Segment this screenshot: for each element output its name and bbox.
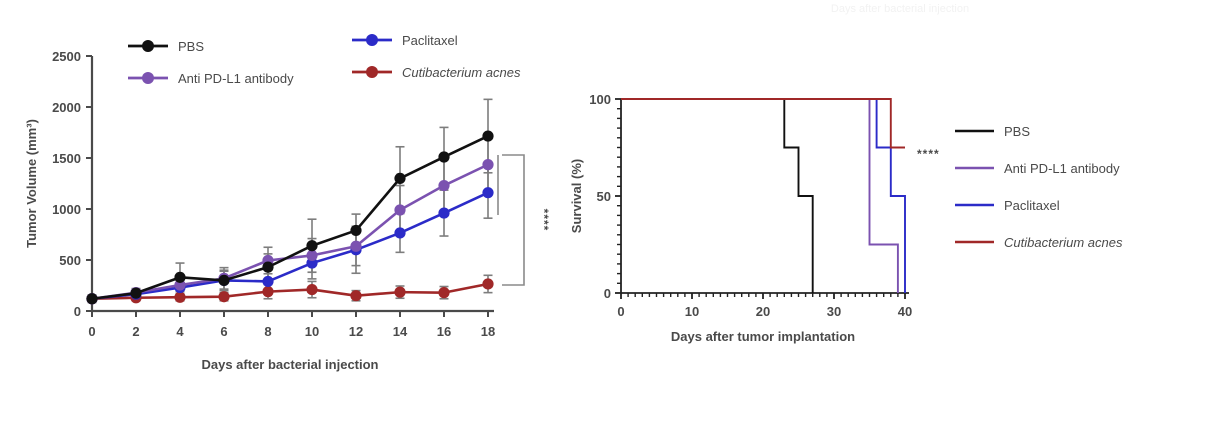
data-point bbox=[438, 287, 449, 298]
data-point bbox=[438, 207, 449, 218]
figure-svg: 05001000150020002500024681012141618Days … bbox=[0, 0, 1216, 424]
series-line bbox=[92, 193, 488, 299]
left-x-tick-label: 6 bbox=[220, 324, 227, 339]
data-point bbox=[482, 187, 493, 198]
right-x-axis-label: Days after tumor implantation bbox=[671, 329, 855, 344]
data-point bbox=[350, 241, 361, 252]
legend-item[interactable]: Paclitaxel bbox=[352, 33, 458, 48]
left-x-axis-label: Days after bacterial injection bbox=[201, 357, 378, 372]
left-x-tick-label: 10 bbox=[305, 324, 319, 339]
legend-label: Paclitaxel bbox=[1004, 198, 1060, 213]
legend-item[interactable]: Anti PD-L1 antibody bbox=[955, 161, 1120, 176]
left-x-tick-label: 2 bbox=[132, 324, 139, 339]
right-x-tick-label: 40 bbox=[898, 304, 912, 319]
series-paclitaxel bbox=[86, 187, 493, 304]
bracket-path bbox=[502, 155, 524, 285]
left-y-tick-label: 2000 bbox=[52, 100, 81, 115]
legend-label: Cutibacterium acnes bbox=[1004, 235, 1123, 250]
data-point bbox=[438, 180, 449, 191]
left-x-tick-label: 16 bbox=[437, 324, 451, 339]
legend-item[interactable]: Cutibacterium acnes bbox=[352, 65, 521, 80]
right-significance-stars: **** bbox=[917, 147, 940, 161]
legend-marker bbox=[366, 66, 378, 78]
data-point bbox=[394, 227, 405, 238]
left-y-tick-label: 1500 bbox=[52, 151, 81, 166]
left-x-tick-label: 8 bbox=[264, 324, 271, 339]
data-point bbox=[394, 173, 405, 184]
data-point bbox=[306, 250, 317, 261]
data-point bbox=[218, 275, 229, 286]
data-point bbox=[482, 278, 493, 289]
left-legend: PBSPaclitaxelAnti PD-L1 antibodyCutibact… bbox=[128, 33, 521, 86]
right-y-axis-label: Survival (%) bbox=[569, 159, 584, 233]
left-x-tick-label: 18 bbox=[481, 324, 495, 339]
legend-item[interactable]: PBS bbox=[128, 39, 204, 54]
left-y-tick-label: 2500 bbox=[52, 49, 81, 64]
left-y-tick-label: 1000 bbox=[52, 202, 81, 217]
data-point bbox=[394, 204, 405, 215]
legend-marker bbox=[142, 72, 154, 84]
survival-series-paclitaxel bbox=[621, 99, 905, 293]
data-point bbox=[394, 287, 405, 298]
data-point bbox=[262, 262, 273, 273]
data-point bbox=[350, 225, 361, 236]
legend-item[interactable]: Cutibacterium acnes bbox=[955, 235, 1123, 250]
left-y-tick-label: 500 bbox=[59, 253, 81, 268]
left-x-tick-label: 4 bbox=[176, 324, 184, 339]
data-point bbox=[262, 286, 273, 297]
tumor-growth-panel: 05001000150020002500024681012141618Days … bbox=[24, 33, 551, 372]
series-line bbox=[92, 165, 488, 299]
right-y-tick-label: 0 bbox=[604, 286, 611, 301]
left-y-tick-label: 0 bbox=[74, 304, 81, 319]
right-x-tick-label: 10 bbox=[685, 304, 699, 319]
legend-label: Anti PD-L1 antibody bbox=[1004, 161, 1120, 176]
legend-label: Cutibacterium acnes bbox=[402, 65, 521, 80]
series-anti-pd-l1-antibody bbox=[86, 159, 493, 304]
data-point bbox=[438, 151, 449, 162]
legend-label: Anti PD-L1 antibody bbox=[178, 71, 294, 86]
legend-item[interactable]: PBS bbox=[955, 124, 1030, 139]
legend-label: Paclitaxel bbox=[402, 33, 458, 48]
figure-canvas: 05001000150020002500024681012141618Days … bbox=[0, 0, 1216, 424]
legend-item[interactable]: Paclitaxel bbox=[955, 198, 1060, 213]
right-x-tick-label: 30 bbox=[827, 304, 841, 319]
data-point bbox=[86, 293, 97, 304]
data-point bbox=[130, 288, 141, 299]
left-y-axis-label: Tumor Volume (mm³) bbox=[24, 119, 39, 248]
legend-label: PBS bbox=[1004, 124, 1030, 139]
right-y-tick-label: 50 bbox=[597, 189, 611, 204]
right-legend: PBSAnti PD-L1 antibodyPaclitaxelCutibact… bbox=[955, 124, 1123, 250]
errorbar-group bbox=[88, 167, 493, 302]
data-point bbox=[174, 272, 185, 283]
legend-label: PBS bbox=[178, 39, 204, 54]
data-point bbox=[306, 240, 317, 251]
left-x-tick-label: 0 bbox=[88, 324, 95, 339]
data-point bbox=[350, 290, 361, 301]
legend-item[interactable]: Anti PD-L1 antibody bbox=[128, 71, 294, 86]
data-point bbox=[306, 284, 317, 295]
survival-series-anti-pd-l1-antibody bbox=[621, 99, 898, 293]
survival-series-cutibacterium-acnes bbox=[621, 99, 905, 148]
left-significance-stars: **** bbox=[537, 209, 551, 232]
legend-marker bbox=[142, 40, 154, 52]
survival-series-pbs bbox=[621, 99, 813, 293]
data-point bbox=[174, 292, 185, 303]
left-x-tick-label: 14 bbox=[393, 324, 408, 339]
data-point bbox=[262, 276, 273, 287]
survival-panel: 050100010203040Days after tumor implanta… bbox=[569, 92, 1123, 344]
significance-bracket: **** bbox=[498, 155, 551, 285]
right-y-tick-label: 100 bbox=[589, 92, 611, 107]
legend-marker bbox=[366, 34, 378, 46]
left-x-tick-label: 12 bbox=[349, 324, 363, 339]
data-point bbox=[482, 159, 493, 170]
right-x-tick-label: 0 bbox=[617, 304, 624, 319]
right-x-tick-label: 20 bbox=[756, 304, 770, 319]
clipped-caption-text: Days after bacterial injection bbox=[831, 3, 969, 15]
data-point bbox=[482, 130, 493, 141]
series-line bbox=[92, 136, 488, 299]
data-point bbox=[218, 291, 229, 302]
